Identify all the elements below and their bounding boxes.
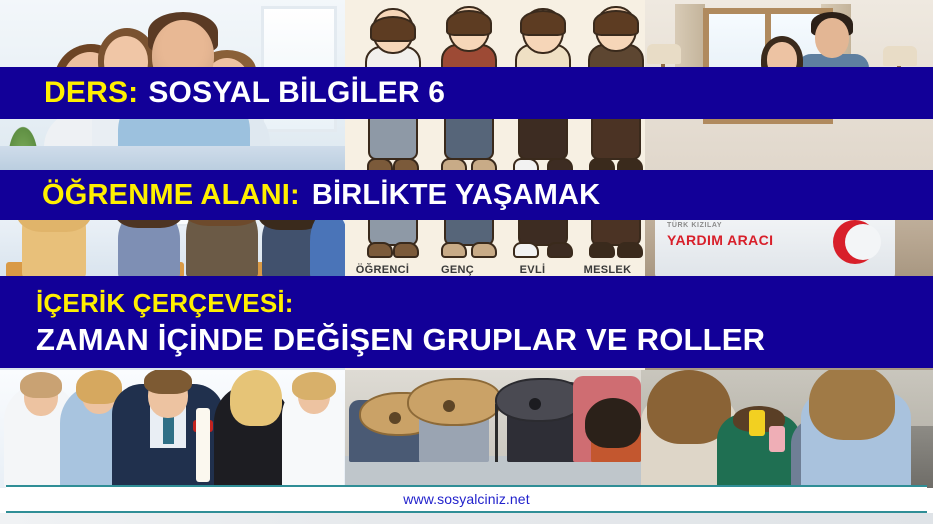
lifestage-label-evli: EVLİ <box>495 264 570 276</box>
banner-icerik-cercevesi-value: ZAMAN İÇİNDE DEĞİŞEN GRUPLAR VE ROLLER <box>36 324 765 355</box>
banner-icerik-cercevesi: İÇERİK ÇERÇEVESİ: ZAMAN İÇİNDE DEĞİŞEN G… <box>0 276 933 368</box>
bottom-strip <box>0 513 933 524</box>
phone-yellow <box>749 410 765 436</box>
footer-bar: www.sosyalciniz.net <box>6 485 927 513</box>
banner-ders-value: SOSYAL BİLGİLER 6 <box>148 78 445 108</box>
lifestage-label-meslek: MESLEK <box>570 264 645 276</box>
professions-photo <box>0 370 345 488</box>
red-crescent-icon <box>833 220 877 264</box>
teens-phones-photo <box>641 370 933 488</box>
footer-website-link[interactable]: www.sosyalciniz.net <box>403 491 529 507</box>
banner-ogrenme-alani: ÖĞRENME ALANI: BİRLİKTE YAŞAMAK <box>0 170 933 220</box>
slide-canvas: ÖĞRENCİ GENÇ EVLİ MESLEK TÜRK KIZI <box>0 0 933 524</box>
banner-ders: DERS: SOSYAL BİLGİLER 6 <box>0 67 933 119</box>
red-crescent-org-label: TÜRK KIZILAY <box>667 222 722 229</box>
banner-icerik-cercevesi-label: İÇERİK ÇERÇEVESİ: <box>36 290 294 316</box>
guitar-class-photo <box>345 370 641 488</box>
red-crescent-vehicle-label: YARDIM ARACI <box>667 232 773 248</box>
lifestage-label-genc: GENÇ <box>420 264 495 276</box>
aid-vehicle: TÜRK KIZILAY YARDIM ARACI <box>655 212 895 278</box>
banner-ders-label: DERS: <box>44 78 138 108</box>
phone-pink <box>769 426 785 452</box>
lifestage-label-row: ÖĞRENCİ GENÇ EVLİ MESLEK <box>345 264 645 276</box>
banner-ogrenme-alani-label: ÖĞRENME ALANI: <box>42 181 300 210</box>
lifestage-label-ogrenci: ÖĞRENCİ <box>345 264 420 276</box>
collage-band-bottom <box>0 370 933 488</box>
banner-ogrenme-alani-value: BİRLİKTE YAŞAMAK <box>312 181 600 210</box>
